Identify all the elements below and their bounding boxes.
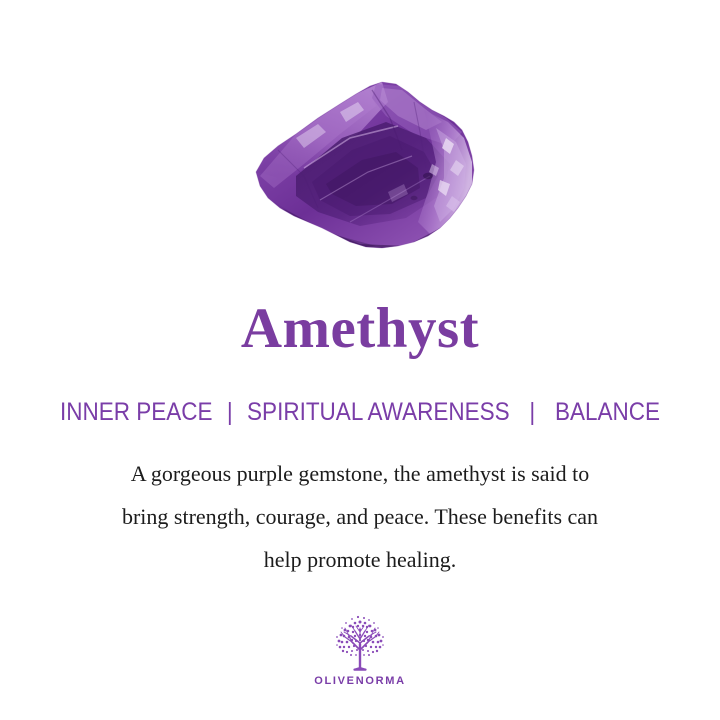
brand-block: OLIVENORMA	[0, 612, 720, 687]
tagline-item-1: INNER PEACE	[60, 398, 213, 426]
tree-of-life-icon	[329, 612, 391, 674]
description-line-1: A gorgeous purple gemstone, the amethyst…	[50, 452, 670, 495]
page-title: Amethyst	[0, 298, 720, 360]
tagline-separator-2: |	[516, 396, 549, 428]
keyword-tagline: INNER PEACE | SPIRITUAL AWARENESS | BALA…	[36, 396, 684, 428]
hero-image-container	[0, 72, 720, 282]
brand-name: OLIVENORMA	[0, 675, 720, 687]
description-line-3: help promote healing.	[50, 538, 670, 581]
tagline-separator-1: |	[219, 396, 241, 428]
tagline-item-3: BALANCE	[555, 398, 660, 426]
description-line-2: bring strength, courage, and peace. Thes…	[50, 495, 670, 538]
tagline-item-2: SPIRITUAL AWARENESS	[247, 398, 510, 426]
raw-amethyst-crystal-image	[200, 72, 520, 282]
amethyst-info-card: Amethyst INNER PEACE | SPIRITUAL AWARENE…	[0, 0, 720, 720]
description-text: A gorgeous purple gemstone, the amethyst…	[50, 452, 670, 581]
